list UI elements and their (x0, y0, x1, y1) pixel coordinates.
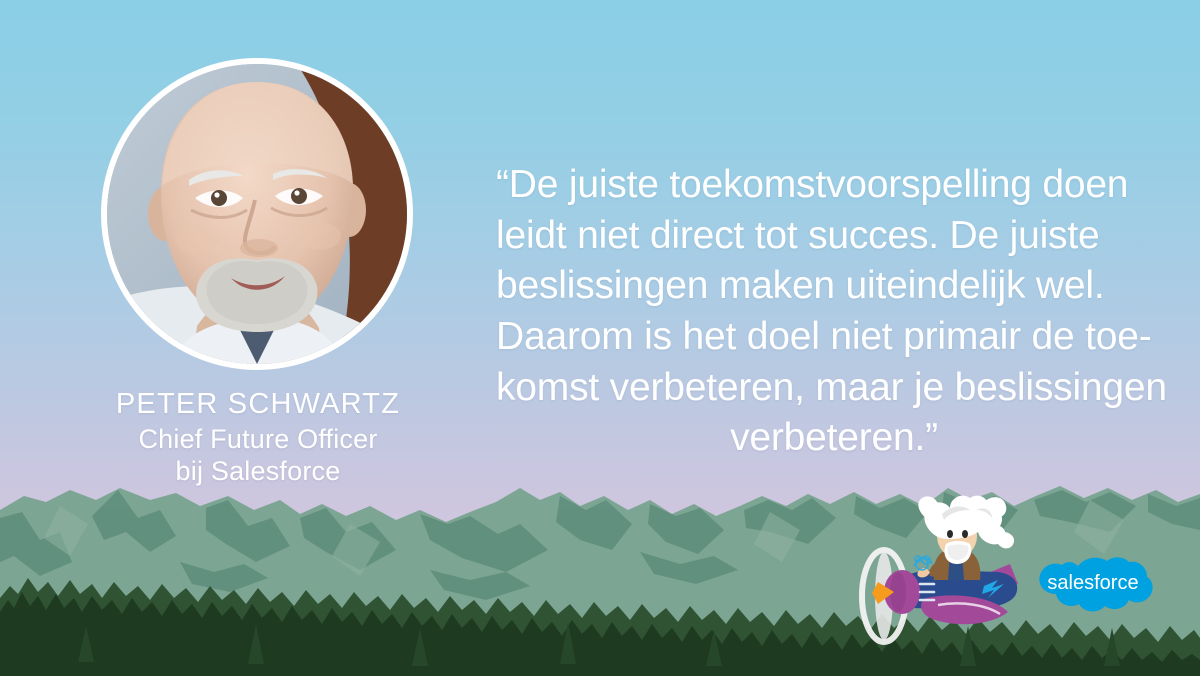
quote-line-6: verbeteren.” (496, 413, 1172, 464)
quote-line-2: leidt niet direct tot succes. De juiste (496, 211, 1172, 262)
quote-line-1: “De juiste toekomstvoorspelling doen (496, 160, 1172, 211)
einstein-airplane-icon (858, 492, 1048, 652)
speaker-role: Chief Future Officer (40, 424, 476, 455)
quote-slide: PETER SCHWARTZ Chief Future Officer bij … (0, 0, 1200, 676)
quote-text: “De juiste toekomstvoorspelling doen lei… (496, 160, 1172, 464)
speaker-credit: PETER SCHWARTZ Chief Future Officer bij … (40, 388, 476, 487)
quote-line-4: Daarom is het doel niet primair de toe- (496, 312, 1172, 363)
avatar (101, 58, 413, 370)
quote-line-5: komst verbeteren, maar je beslissingen (496, 363, 1172, 414)
salesforce-wordmark: salesforce (1047, 572, 1138, 594)
quote-line-3: beslissingen maken uiteindelijk wel. (496, 261, 1172, 312)
salesforce-logo: salesforce (1032, 552, 1154, 628)
speaker-name: PETER SCHWARTZ (40, 388, 476, 422)
speaker-org: bij Salesforce (40, 456, 476, 487)
